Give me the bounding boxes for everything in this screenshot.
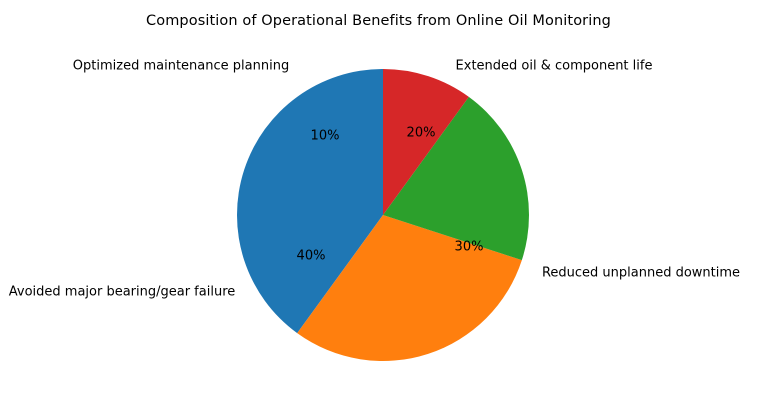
pie-slice-label-3: Extended oil & component life bbox=[456, 59, 653, 74]
pie-slice-label-1: Avoided major bearing/gear failure bbox=[9, 285, 236, 300]
pie-slice-label-4: Optimized maintenance planning bbox=[73, 59, 289, 74]
pie-slice-percentage-2: 30% bbox=[455, 240, 484, 255]
pie-slice-percentage-4: 10% bbox=[311, 129, 340, 144]
pie-chart-figure: Composition of Operational Benefits from… bbox=[0, 0, 757, 405]
pie-slice-percentage-3: 20% bbox=[407, 126, 436, 141]
pie-slice-label-2: Reduced unplanned downtime bbox=[542, 266, 740, 281]
pie-slice-percentage-1: 40% bbox=[297, 249, 326, 264]
pie-wedges-group bbox=[237, 69, 529, 361]
